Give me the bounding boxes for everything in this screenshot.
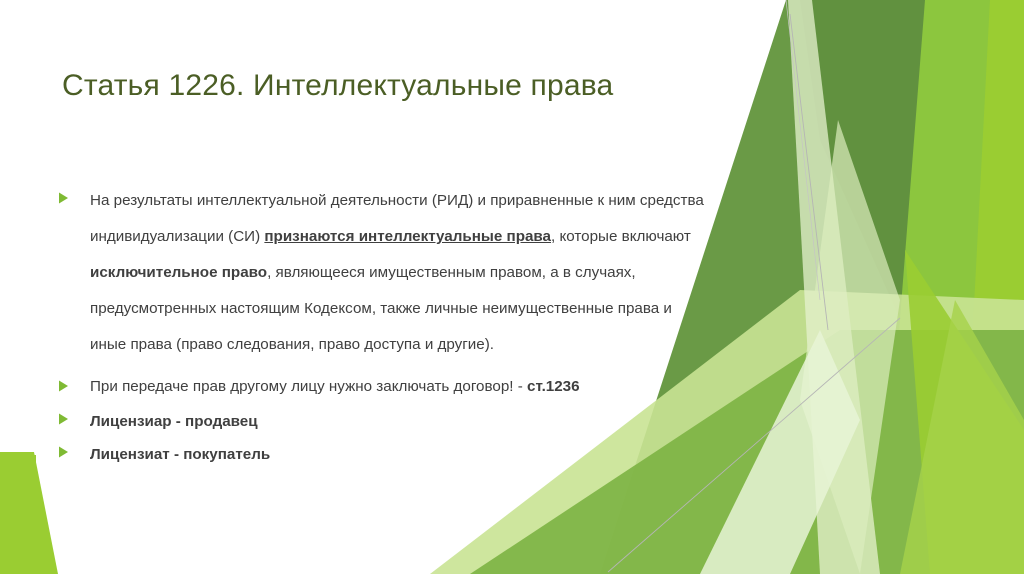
slide-body: На результаты интеллектуальной деятельно… xyxy=(58,183,888,470)
list-item-paragraph: На результаты интеллектуальной деятельно… xyxy=(90,183,888,363)
paragraph-line-5: иные права (право следования, право дост… xyxy=(90,327,888,363)
deco-shape-bright-lime-right xyxy=(880,0,1024,574)
emphasis-recognized-rights: признаются интеллектуальные права xyxy=(264,228,551,245)
deco-shape-bottom-left-wedge xyxy=(0,455,36,574)
triangle-right-icon xyxy=(58,380,76,392)
slide-title: Статья 1226. Интеллектуальные права xyxy=(62,68,762,104)
paragraph-line-2-part-c: , которые включают xyxy=(551,228,691,245)
list-item: При передаче прав другому лицу нужно зак… xyxy=(58,372,888,402)
paragraph-line-1: На результаты интеллектуальной деятельно… xyxy=(90,183,888,219)
list-item: На результаты интеллектуальной деятельно… xyxy=(58,183,888,363)
triangle-right-icon xyxy=(58,192,76,204)
list-item: Лицензиат - покупатель xyxy=(58,440,888,470)
paragraph-line-4: предусмотренных настоящим Кодексом, такж… xyxy=(90,291,888,327)
deco-shape-bottom-left-slant xyxy=(0,455,36,574)
licensee-definition: Лицензиат - покупатель xyxy=(90,440,888,470)
deco-shape-bottom-left-taper xyxy=(0,452,58,574)
list-item: Лицензиар - продавец xyxy=(58,407,888,437)
emphasis-exclusive-right: исключительное право xyxy=(90,264,267,281)
licensor-definition: Лицензиар - продавец xyxy=(90,407,888,437)
paragraph-line-3: исключительное право, являющееся имущест… xyxy=(90,255,888,291)
presentation-slide: Статья 1226. Интеллектуальные права На р… xyxy=(0,0,1024,574)
deco-shape-light-overlay-lower-right xyxy=(900,300,1024,574)
triangle-right-icon xyxy=(58,446,76,458)
paragraph-line-3-part-b: , являющееся имущественным правом, а в с… xyxy=(267,264,636,281)
list-item-text: При передаче прав другому лицу нужно зак… xyxy=(90,372,888,402)
paragraph-line-2: индивидуализации (СИ) признаются интелле… xyxy=(90,219,888,255)
deco-shape-lime-narrow-triangle xyxy=(905,250,1024,574)
transfer-rights-text: При передаче прав другому лицу нужно зак… xyxy=(90,378,527,395)
triangle-right-icon xyxy=(58,413,76,425)
paragraph-line-2-part-a: индивидуализации (СИ) xyxy=(90,228,264,245)
article-reference-1236: ст.1236 xyxy=(527,378,580,395)
deco-shape-far-right-lime xyxy=(960,0,1024,574)
